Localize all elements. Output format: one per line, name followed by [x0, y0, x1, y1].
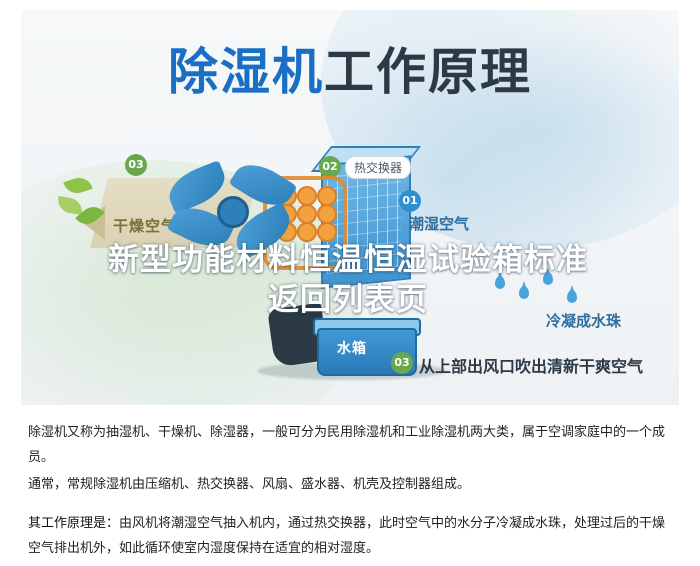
headline-dark-text: 工作原理 — [324, 43, 532, 101]
watermark-title: 新型功能材料恒温恒湿试验箱标准 — [108, 242, 588, 278]
badge-03-outlet: 03 — [391, 352, 413, 374]
badge-03-dry-air: 03 — [125, 154, 147, 176]
bottom-caption: 从上部出风口吹出清新干爽空气 — [419, 353, 643, 377]
return-to-list-link[interactable]: 返回列表页 — [268, 282, 428, 318]
badge-02-heat-exchanger: 02 — [319, 156, 341, 178]
paragraph-3: 其工作原理是：由风机将潮湿空气抽入机内，通过热交换器，此时空气中的水分子冷凝成水… — [28, 511, 674, 561]
paragraph-1: 除湿机又称为抽湿机、干燥机、除湿器，一般可分为民用除湿机和工业除湿机两大类，属于… — [28, 420, 674, 470]
paragraph-3-label: 其工作原理是： — [28, 516, 119, 531]
paragraph-2: 通常，常规除湿机由压缩机、热交换器、风扇、盛水器、机壳及控制器组成。 — [28, 472, 674, 497]
illustration-headline: 除湿机工作原理 — [21, 32, 679, 104]
article-body: 除湿机又称为抽湿机、干燥机、除湿器，一般可分为民用除湿机和工业除湿机两大类，属于… — [28, 420, 674, 561]
badge-01-moist-air: 01 — [399, 190, 421, 212]
fan-hub-icon — [217, 196, 249, 228]
water-tank-label: 水箱 — [337, 338, 367, 358]
illustration-card: 除湿机工作原理 干燥空气 03 02 热交换器 01 潮 — [21, 10, 679, 405]
moist-air-label: 潮湿空气 — [409, 213, 469, 234]
headline-blue-text: 除湿机 — [168, 43, 324, 101]
paragraph-3-text: 由风机将潮湿空气抽入机内，通过热交换器，此时空气中的水分子冷凝成水珠，处理过后的… — [28, 516, 665, 556]
page-root: 除湿机工作原理 干燥空气 03 02 热交换器 01 潮 — [0, 0, 700, 566]
heat-exchanger-tag: 热交换器 — [345, 156, 411, 179]
watermark-overlay: 新型功能材料恒温恒湿试验箱标准 返回列表页 — [88, 240, 608, 320]
